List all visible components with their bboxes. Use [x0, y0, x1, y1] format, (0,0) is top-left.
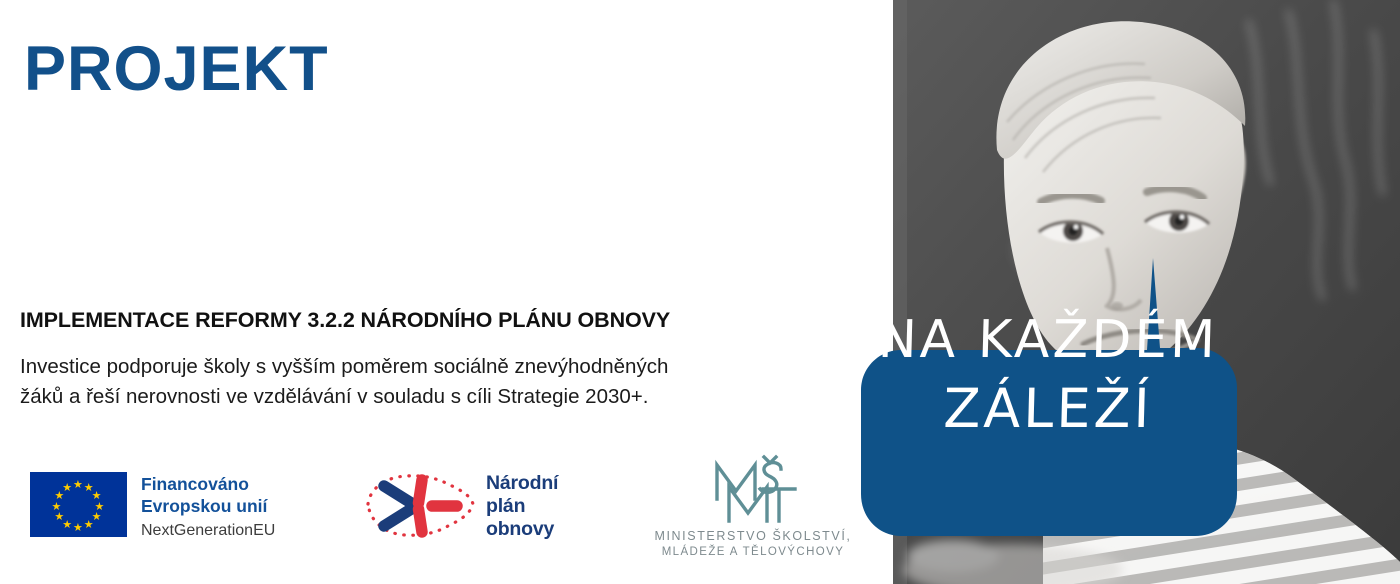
- eu-logo-text: Financováno Evropskou unií NextGeneratio…: [141, 472, 275, 541]
- bubble-line-1: NA KAŽDÉM: [856, 314, 1239, 366]
- speech-bubble-text: NA KAŽDÉM ZÁLEŽÍ: [857, 314, 1239, 436]
- reform-description: Investice podporuje školy s vyšším poměr…: [20, 352, 840, 411]
- npo-mark-icon: [360, 464, 478, 548]
- npo-text-line-3: obnovy: [486, 518, 558, 541]
- npo-logo-text: Národní plán obnovy: [486, 472, 558, 541]
- left-content-pane: PROJEKT IMPLEMENTACE REFORMY 3.2.2 NÁROD…: [0, 0, 893, 584]
- msmt-text-line-1: MINISTERSTVO ŠKOLSTVÍ,: [648, 529, 858, 545]
- msmt-logo-text: MINISTERSTVO ŠKOLSTVÍ, MLÁDEŽE A TĚLOVÝC…: [648, 529, 858, 559]
- logo-strip: Financováno Evropskou unií NextGeneratio…: [0, 450, 893, 570]
- eu-text-line-1: Financováno: [141, 473, 275, 495]
- npo-text-line-2: plán: [486, 495, 558, 518]
- page-title: PROJEKT: [24, 38, 329, 101]
- msmt-monogram-icon: [707, 453, 799, 525]
- project-banner: PROJEKT IMPLEMENTACE REFORMY 3.2.2 NÁROD…: [0, 0, 1400, 584]
- msmt-text-line-2: MLÁDEŽE A TĚLOVÝCHOVY: [648, 545, 858, 559]
- description-line-2: žáků a řeší nerovnosti ve vzdělávání v s…: [20, 382, 840, 412]
- reform-heading: IMPLEMENTACE REFORMY 3.2.2 NÁRODNÍHO PLÁ…: [20, 308, 670, 334]
- npo-text-line-1: Národní: [486, 472, 558, 495]
- eu-text-line-2: Evropskou unií: [141, 495, 275, 517]
- speech-bubble: NA KAŽDÉM ZÁLEŽÍ: [857, 256, 1239, 540]
- msmt-logo: MINISTERSTVO ŠKOLSTVÍ, MLÁDEŽE A TĚLOVÝC…: [648, 453, 858, 559]
- narodni-plan-obnovy-logo: Národní plán obnovy: [360, 464, 558, 548]
- eu-funding-logo: Financováno Evropskou unií NextGeneratio…: [30, 472, 275, 541]
- eu-text-line-3: NextGenerationEU: [141, 520, 275, 542]
- eu-flag-icon: [30, 472, 127, 537]
- bubble-line-2: ZÁLEŽÍ: [856, 382, 1239, 436]
- description-line-1: Investice podporuje školy s vyšším poměr…: [20, 352, 840, 382]
